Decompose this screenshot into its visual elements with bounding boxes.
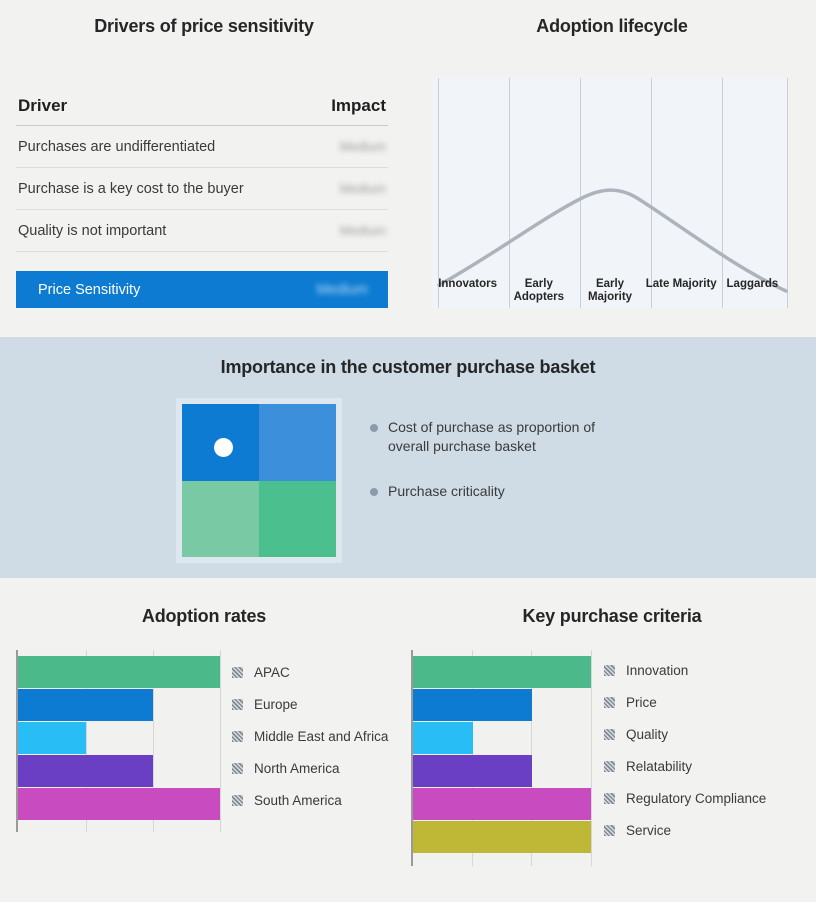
position-dot-icon: [214, 438, 233, 457]
driver-label: Quality is not important: [18, 223, 166, 239]
legend-item-regulatory-compliance[interactable]: Regulatory Compliance: [604, 782, 766, 814]
driver-label: Purchases are undifferentiated: [18, 139, 215, 155]
legend-item-quality[interactable]: Quality: [604, 718, 766, 750]
legend-item-south-america[interactable]: South America: [232, 784, 388, 816]
criteria-legend: Innovation Price Quality Relatability Re…: [604, 654, 766, 846]
hatched-swatch-icon: [232, 763, 243, 774]
hatched-swatch-icon: [604, 761, 615, 772]
summary-impact-value: Medium: [316, 282, 368, 298]
quadrant-bottom-right[interactable]: [259, 481, 336, 558]
bar-relatability[interactable]: [413, 755, 532, 787]
stage-label-innovators: Innovators: [432, 278, 503, 304]
impact-value: Medium: [340, 223, 386, 238]
legend-item-europe[interactable]: Europe: [232, 688, 388, 720]
table-header-row: Driver Impact: [16, 86, 388, 126]
legend-label: Purchase criticality: [388, 482, 505, 501]
legend-item-service[interactable]: Service: [604, 814, 766, 846]
hatched-swatch-icon: [232, 731, 243, 742]
legend-item-relatability[interactable]: Relatability: [604, 750, 766, 782]
adoption-panel-title: Adoption rates: [0, 606, 408, 627]
basket-legend: Cost of purchase as proportion of overal…: [370, 418, 670, 527]
hatched-swatch-icon: [604, 729, 615, 740]
bar-regulatory-compliance[interactable]: [413, 788, 591, 820]
legend-item-price[interactable]: Price: [604, 686, 766, 718]
bar-middle-east-and-africa[interactable]: [18, 722, 86, 754]
list-item: Purchase criticality: [370, 482, 670, 501]
legend-label: Quality: [626, 727, 668, 742]
drivers-table: Driver Impact Purchases are undifferenti…: [16, 86, 388, 252]
list-item: Cost of purchase as proportion of overal…: [370, 418, 670, 456]
bar-europe[interactable]: [18, 689, 153, 721]
legend-label: Service: [626, 823, 671, 838]
legend-label: Price: [626, 695, 657, 710]
bar-south-america[interactable]: [18, 788, 220, 820]
legend-item-apac[interactable]: APAC: [232, 656, 388, 688]
lifecycle-stage-labels: Innovators Early Adopters Early Majority…: [432, 278, 788, 304]
key-purchase-criteria-chart: [411, 650, 593, 866]
lifecycle-panel-title: Adoption lifecycle: [408, 16, 816, 37]
legend-item-innovation[interactable]: Innovation: [604, 654, 766, 686]
lifecycle-panel: Adoption lifecycle Innovators Early Adop…: [408, 0, 816, 337]
hatched-swatch-icon: [232, 795, 243, 806]
basket-panel-title: Importance in the customer purchase bask…: [0, 357, 816, 378]
legend-label: Relatability: [626, 759, 692, 774]
table-row[interactable]: Quality is not important Medium: [16, 210, 388, 252]
adoption-rates-panel: Adoption rates APAC Europe Middle East a…: [0, 578, 408, 902]
bar-service[interactable]: [413, 821, 591, 853]
bar-innovation[interactable]: [413, 656, 591, 688]
hatched-swatch-icon: [604, 697, 615, 708]
purchase-basket-panel: Importance in the customer purchase bask…: [0, 337, 816, 578]
column-header-impact: Impact: [331, 96, 386, 116]
impact-value: Medium: [340, 181, 386, 196]
price-sensitivity-summary-row[interactable]: Price Sensitivity Medium: [16, 271, 388, 308]
legend-item-north-america[interactable]: North America: [232, 752, 388, 784]
lifecycle-chart: Innovators Early Adopters Early Majority…: [432, 78, 788, 308]
hatched-swatch-icon: [604, 665, 615, 676]
legend-label: Cost of purchase as proportion of overal…: [388, 418, 640, 456]
legend-label: Middle East and Africa: [254, 729, 388, 744]
quadrant-bottom-left[interactable]: [182, 481, 259, 558]
table-row[interactable]: Purchases are undifferentiated Medium: [16, 126, 388, 168]
summary-label: Price Sensitivity: [38, 282, 140, 298]
bullet-icon: [370, 424, 378, 432]
legend-label: Europe: [254, 697, 298, 712]
quadrant-matrix[interactable]: [176, 398, 342, 563]
bar-north-america[interactable]: [18, 755, 153, 787]
adoption-legend: APAC Europe Middle East and Africa North…: [232, 656, 388, 816]
drivers-panel-title: Drivers of price sensitivity: [0, 16, 408, 37]
legend-item-middle-east-and-africa[interactable]: Middle East and Africa: [232, 720, 388, 752]
bar-quality[interactable]: [413, 722, 473, 754]
stage-label-early-majority: Early Majority: [574, 278, 645, 304]
quadrant-top-right[interactable]: [259, 404, 336, 481]
hatched-swatch-icon: [232, 699, 243, 710]
table-row[interactable]: Purchase is a key cost to the buyer Medi…: [16, 168, 388, 210]
adoption-curve: [432, 78, 788, 308]
bar-apac[interactable]: [18, 656, 220, 688]
impact-value: Medium: [340, 139, 386, 154]
bar-group: [413, 650, 593, 866]
legend-label: Innovation: [626, 663, 688, 678]
legend-label: APAC: [254, 665, 290, 680]
hatched-swatch-icon: [604, 793, 615, 804]
criteria-panel-title: Key purchase criteria: [408, 606, 816, 627]
stage-label-laggards: Laggards: [717, 278, 788, 304]
legend-label: Regulatory Compliance: [626, 791, 766, 806]
key-purchase-criteria-panel: Key purchase criteria Innovation Price Q…: [408, 578, 816, 902]
stage-label-early-adopters: Early Adopters: [503, 278, 574, 304]
bullet-icon: [370, 488, 378, 496]
drivers-panel: Drivers of price sensitivity Driver Impa…: [0, 0, 408, 337]
hatched-swatch-icon: [232, 667, 243, 678]
legend-label: South America: [254, 793, 342, 808]
hatched-swatch-icon: [604, 825, 615, 836]
column-header-driver: Driver: [18, 96, 67, 116]
bar-group: [18, 650, 222, 832]
driver-label: Purchase is a key cost to the buyer: [18, 181, 244, 197]
legend-label: North America: [254, 761, 340, 776]
adoption-rates-chart: [16, 650, 222, 832]
stage-label-late-majority: Late Majority: [646, 278, 717, 304]
bar-price[interactable]: [413, 689, 532, 721]
